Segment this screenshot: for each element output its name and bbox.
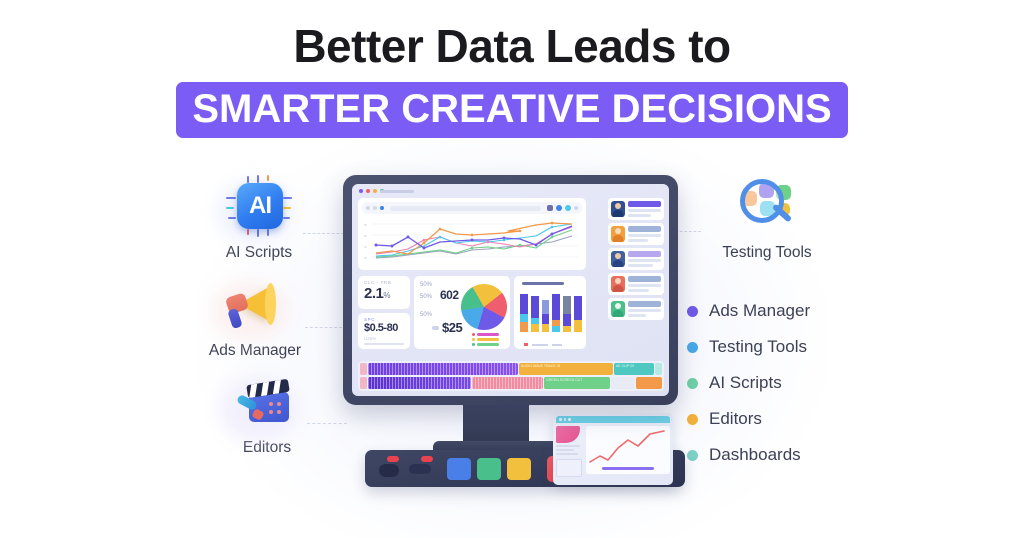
bullet-label: Testing Tools [709,337,807,357]
progress-bar [628,226,661,232]
window-dot-icon [373,189,377,193]
timeline-clip-label: GREEN SCREEN CUT [544,377,609,383]
window-title-placeholder [380,190,414,193]
audio-waveform [368,377,471,389]
stat-chip-icon [432,326,439,330]
headline-line-2: SMARTER CREATIVE DECISIONS [192,89,831,129]
legend-item [472,333,506,336]
timeline-clip[interactable] [611,377,635,389]
blue-tile-icon[interactable] [447,458,471,480]
bullet-dot-icon [687,450,698,461]
green-tile-icon[interactable] [477,458,501,480]
laptop-brand-shape [556,426,580,443]
feature-label-editors: Editors [197,439,337,457]
illustration: AI AI Scripts Ads Manager [175,165,855,520]
laptop-dot-icon [568,418,571,421]
list-item[interactable]: AI Scripts [687,365,810,401]
feature-label-testing-tools: Testing Tools [687,244,847,262]
monitor-screen: 8060 4020 [352,184,669,396]
list-item[interactable]: Ads Manager [687,293,810,329]
browser-toolbar[interactable] [362,202,582,214]
legend-item [472,338,506,341]
laptop-body [556,423,670,477]
headline-line-1: Better Data Leads to [0,22,1024,70]
bullet-label: Editors [709,409,762,429]
toolbar-icon[interactable] [565,205,571,211]
list-item[interactable] [608,248,664,270]
legend-item [472,343,506,346]
bar-group [574,292,582,332]
clapperboard-icon [233,370,301,434]
toolbar-icon[interactable] [547,205,553,211]
stat-unit: % [383,291,390,300]
progress-bar [628,251,661,257]
timeline-clip[interactable] [472,377,543,389]
audio-waveform [368,363,518,375]
feature-ads-manager[interactable]: Ads Manager [185,273,325,360]
secondary-laptop [553,413,673,485]
line-chart-svg: 8060 4020 [362,218,580,264]
editor-timeline[interactable]: AUDIO WAVE TRACK 01 AE CLIP 02 [358,361,664,391]
feature-label-ads-manager: Ads Manager [185,342,325,360]
poster-canvas: Better Data Leads to SMARTER CREATIVE DE… [0,0,1024,538]
megaphone-icon [221,273,289,337]
timeline-clip-label: AUDIO WAVE TRACK 01 [519,363,613,369]
timeline-clip[interactable]: AE CLIP 02 [614,363,654,375]
list-item[interactable] [608,198,664,220]
timeline-clip[interactable]: AUDIO WAVE TRACK 01 [519,363,613,375]
stat-value: $0.5-80 [364,322,404,334]
bar-group [563,292,571,332]
bar-chart-title-placeholder [522,282,564,285]
avatar [611,201,625,217]
avatar [611,301,625,317]
toolbar-overflow-icon[interactable] [574,206,578,210]
magnifier-icon [734,175,800,239]
legend-dot-icon [472,343,475,346]
pie-percent-labels: 50% 50% 50% [420,282,432,318]
bullet-dot-icon [687,378,698,389]
laptop-titlebar [556,416,670,423]
feature-ai-scripts[interactable]: AI AI Scripts [189,175,329,262]
svg-text:40: 40 [364,245,367,249]
svg-text:80: 80 [364,223,367,227]
timeline-clip[interactable] [368,363,518,375]
stat-value: 2.1% [364,285,404,302]
mouse-icon [379,464,399,477]
headline-block: Better Data Leads to SMARTER CREATIVE DE… [0,22,1024,138]
stat-value-25-row: $25 [432,320,462,335]
bar-chart-card [514,276,586,349]
laptop-sidebar [556,426,583,477]
ai-chip-icon: AI [225,175,293,239]
avatar [611,276,625,292]
timeline-clip[interactable]: GREEN SCREEN CUT [544,377,609,389]
feature-testing-tools[interactable]: Testing Tools [687,175,847,262]
list-item[interactable] [608,223,664,245]
address-bar[interactable] [390,206,541,211]
stat-value-25: $25 [442,320,462,335]
bullet-dot-icon [687,306,698,317]
ai-chip-body: AI [237,183,283,229]
monitor: 8060 4020 [343,175,678,405]
timeline-clip[interactable] [636,377,662,389]
laptop-line-chart [586,426,670,470]
laptop-chart-panel [586,426,670,474]
pie-percent: 50% [420,282,432,288]
stat-progress [364,343,404,345]
pie-chart-card: 50% 50% 50% 602 $25 [414,276,510,349]
red-button-icon [387,456,399,462]
list-item[interactable] [608,273,664,295]
pie-legend [472,331,506,346]
line-chart-card: 8060 4020 [358,198,586,270]
laptop-dot-icon [559,418,562,421]
laptop-progress-bar [602,467,654,470]
bar-group [531,292,539,332]
bar-group [552,292,560,332]
window-dot-icon [359,189,363,193]
pie-chart [461,284,507,330]
headline-highlight-band: SMARTER CREATIVE DECISIONS [176,82,847,138]
progress-bar [628,301,661,307]
toolbar-icon[interactable] [556,205,562,211]
nav-back-icon[interactable] [366,206,370,210]
pie-percent: 50% [420,294,432,300]
line-chart: 8060 4020 [362,218,582,267]
avatar [611,251,625,267]
list-item[interactable]: Editors [687,401,810,437]
timeline-track[interactable]: AUDIO WAVE TRACK 01 AE CLIP 02 [360,363,662,375]
stat-card-ctr: CLC - TRB 2.1% [358,276,410,309]
bullet-label: Dashboards [709,445,801,465]
laptop-dot-icon [564,418,567,421]
bullet-label: Ads Manager [709,301,810,321]
stat-sub: U25% [364,336,404,341]
legend-dot-icon [472,333,475,336]
red-button-2-icon [421,456,433,462]
legend-dot-icon [524,343,528,346]
svg-text:20: 20 [364,256,367,260]
ai-chip-label: AI [249,192,271,220]
bullet-dot-icon [687,342,698,353]
bar-chart-legend [524,343,562,346]
audio-waveform [472,377,543,389]
timeline-handle-left[interactable] [360,363,367,375]
bar-group [520,292,528,332]
timeline-clip[interactable] [368,377,471,389]
feature-editors[interactable]: Editors [197,370,337,457]
legend-dot-icon [472,338,475,341]
timeline-track[interactable]: GREEN SCREEN CUT VO TAKE 3 [360,377,662,389]
list-item[interactable]: Testing Tools [687,329,810,365]
timeline-handle-left[interactable] [360,377,367,389]
svg-text:60: 60 [364,234,367,238]
bullet-label: AI Scripts [709,373,782,393]
timeline-handle-right[interactable] [655,363,662,375]
stylus-icon [409,464,431,474]
user-list-panel [608,198,664,323]
bar-chart [520,292,582,332]
stat-card-spc: SPC $0.5-80 U25% [358,313,410,349]
window-dot-icon [366,189,370,193]
bullet-dot-icon [687,414,698,425]
monitor-stand-neck [463,403,529,445]
progress-bar [628,201,661,207]
feature-label-ai-scripts: AI Scripts [189,244,329,262]
list-item[interactable] [608,298,664,320]
feature-bullet-list: Ads Manager Testing Tools AI Scripts Edi… [687,293,810,473]
list-item[interactable]: Dashboards [687,437,810,473]
nav-reload-icon[interactable] [380,206,384,210]
timeline-clip-label: AE CLIP 02 [614,363,654,369]
nav-forward-icon[interactable] [373,206,377,210]
avatar [611,226,625,242]
progress-bar [628,276,661,282]
bar-group [542,292,550,332]
pie-percent: 50% [420,312,432,318]
stat-value-602: 602 [440,288,459,302]
yellow-tile-icon[interactable] [507,458,531,480]
